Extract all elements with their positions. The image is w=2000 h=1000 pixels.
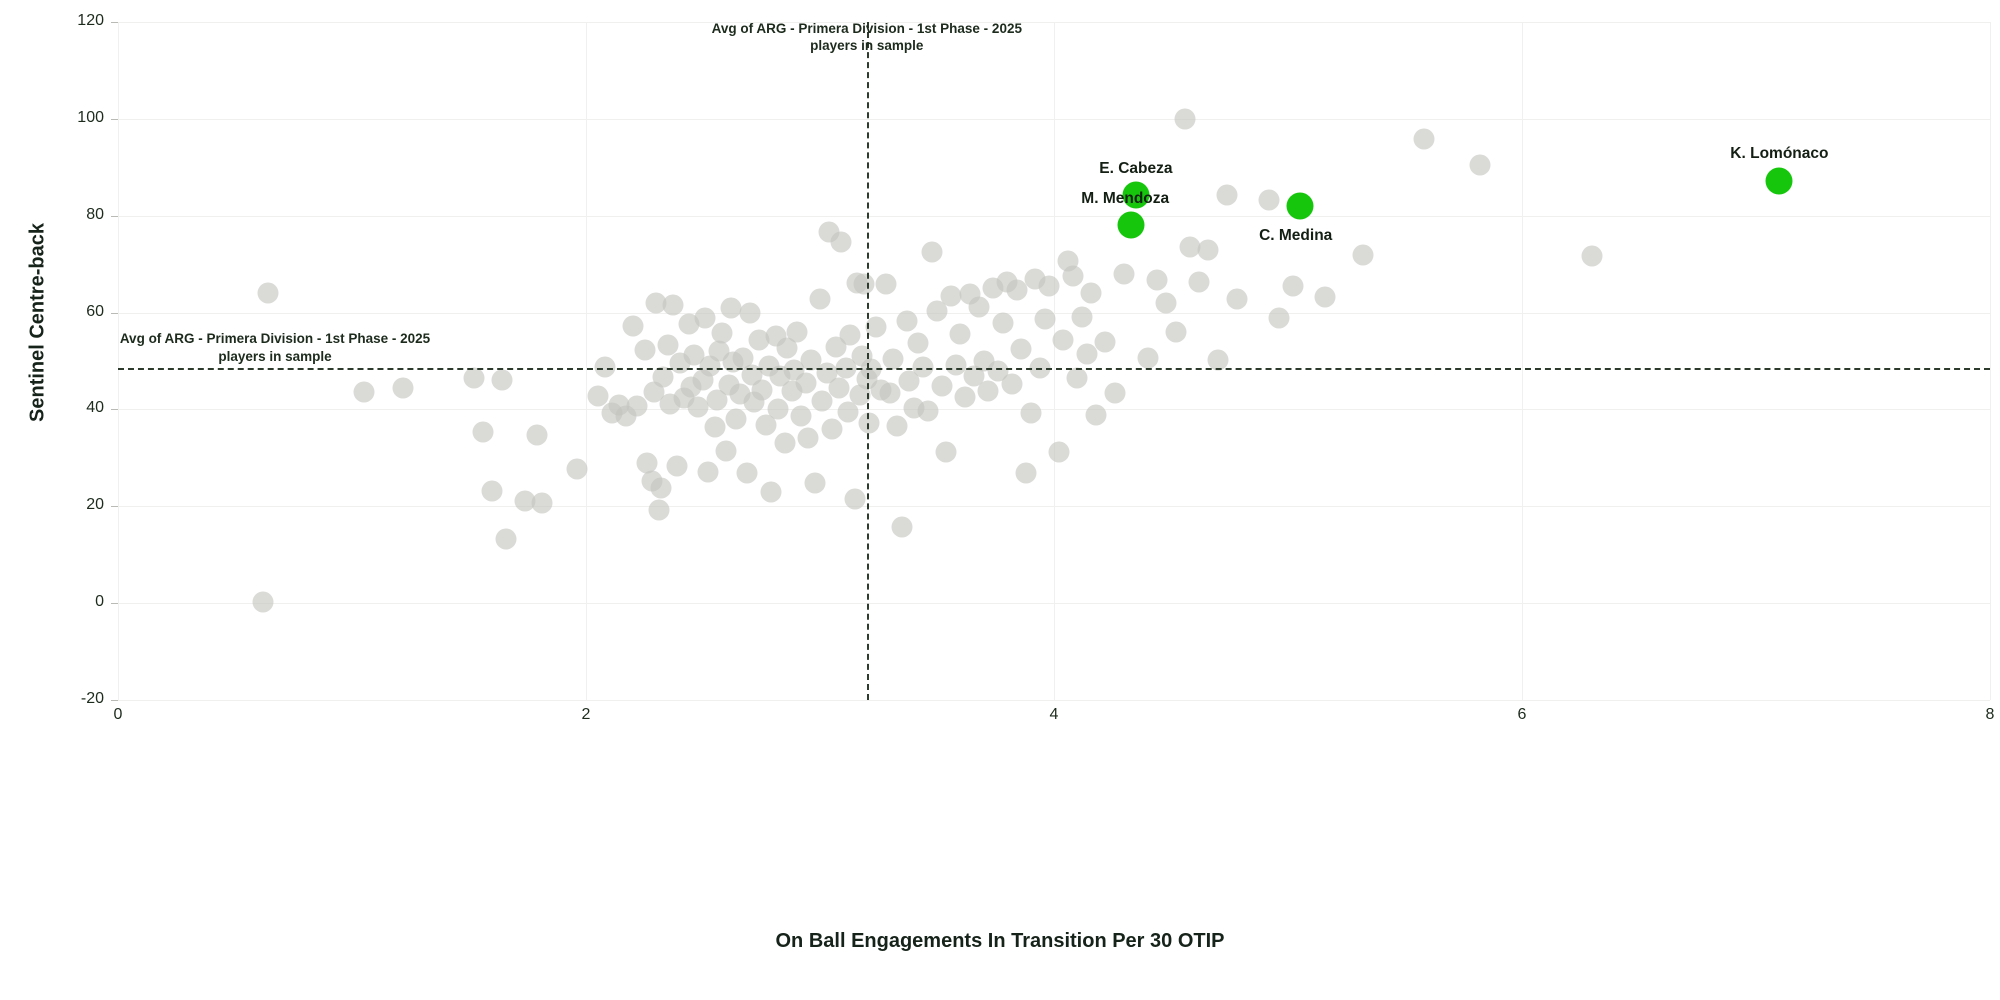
data-point[interactable] bbox=[1137, 348, 1158, 369]
data-point[interactable] bbox=[1146, 269, 1167, 290]
data-point[interactable] bbox=[473, 421, 494, 442]
data-point[interactable] bbox=[463, 368, 484, 389]
data-point[interactable] bbox=[805, 472, 826, 493]
data-point-label: E. Cabeza bbox=[1099, 160, 1172, 178]
data-point[interactable] bbox=[880, 382, 901, 403]
data-point[interactable] bbox=[1095, 331, 1116, 352]
scatter-chart: Sentinel Centre-back On Ball Engagements… bbox=[0, 0, 2000, 1000]
x-tick-label: 8 bbox=[1986, 706, 1995, 724]
data-point[interactable] bbox=[353, 381, 374, 402]
data-point[interactable] bbox=[1039, 276, 1060, 297]
reference-line-vertical-annotation: Avg of ARG - Primera Division - 1st Phas… bbox=[712, 20, 1022, 55]
data-point[interactable] bbox=[566, 458, 587, 479]
data-point[interactable] bbox=[1282, 276, 1303, 297]
x-axis-title: On Ball Engagements In Transition Per 30… bbox=[0, 930, 2000, 953]
data-point[interactable] bbox=[936, 442, 957, 463]
gridline-vertical bbox=[1054, 22, 1055, 700]
data-point[interactable] bbox=[657, 334, 678, 355]
y-tick-mark bbox=[111, 409, 118, 410]
data-point[interactable] bbox=[622, 316, 643, 337]
data-point[interactable] bbox=[1198, 239, 1219, 260]
data-point[interactable] bbox=[941, 286, 962, 307]
data-point[interactable] bbox=[1217, 184, 1238, 205]
x-tick-label: 6 bbox=[1518, 706, 1527, 724]
y-tick-mark bbox=[111, 313, 118, 314]
data-point[interactable] bbox=[840, 324, 861, 345]
data-point[interactable] bbox=[667, 456, 688, 477]
x-tick-label: 4 bbox=[1050, 706, 1059, 724]
data-point[interactable] bbox=[1189, 271, 1210, 292]
y-tick-mark bbox=[111, 700, 118, 701]
data-point[interactable] bbox=[662, 294, 683, 315]
data-point[interactable] bbox=[1352, 245, 1373, 266]
data-point[interactable] bbox=[1165, 321, 1186, 342]
data-point[interactable] bbox=[828, 377, 849, 398]
highlighted-data-point[interactable] bbox=[1766, 167, 1793, 194]
data-point[interactable] bbox=[1011, 339, 1032, 360]
reference-line-horizontal-annotation: Avg of ARG - Primera Division - 1st Phas… bbox=[90, 330, 460, 365]
data-point-label: M. Mendoza bbox=[1081, 190, 1169, 208]
data-point[interactable] bbox=[1072, 307, 1093, 328]
data-point[interactable] bbox=[1006, 280, 1027, 301]
data-point[interactable] bbox=[1062, 265, 1083, 286]
data-point[interactable] bbox=[739, 303, 760, 324]
data-point[interactable] bbox=[1053, 329, 1074, 350]
data-point[interactable] bbox=[491, 370, 512, 391]
data-point[interactable] bbox=[1067, 367, 1088, 388]
data-point[interactable] bbox=[810, 288, 831, 309]
data-point[interactable] bbox=[854, 274, 875, 295]
data-point[interactable] bbox=[866, 317, 887, 338]
y-tick-mark bbox=[111, 603, 118, 604]
data-point[interactable] bbox=[1104, 382, 1125, 403]
data-point[interactable] bbox=[1179, 236, 1200, 257]
data-point[interactable] bbox=[838, 402, 859, 423]
data-point[interactable] bbox=[887, 416, 908, 437]
data-point[interactable] bbox=[1081, 283, 1102, 304]
gridline-horizontal bbox=[118, 700, 1990, 701]
data-point[interactable] bbox=[791, 405, 812, 426]
y-tick-mark bbox=[111, 22, 118, 23]
data-point[interactable] bbox=[1156, 292, 1177, 313]
data-point[interactable] bbox=[1268, 308, 1289, 329]
y-tick-label: 40 bbox=[24, 399, 104, 417]
data-point[interactable] bbox=[253, 592, 274, 613]
data-point[interactable] bbox=[891, 516, 912, 537]
data-point[interactable] bbox=[1086, 404, 1107, 425]
gridline-vertical bbox=[1990, 22, 1991, 700]
data-point[interactable] bbox=[1413, 128, 1434, 149]
data-point[interactable] bbox=[711, 322, 732, 343]
y-tick-mark bbox=[111, 216, 118, 217]
data-point[interactable] bbox=[992, 313, 1013, 334]
data-point[interactable] bbox=[1469, 154, 1490, 175]
reference-line-vertical bbox=[867, 22, 869, 700]
data-point[interactable] bbox=[721, 297, 742, 318]
data-point[interactable] bbox=[950, 323, 971, 344]
x-tick-label: 2 bbox=[582, 706, 591, 724]
data-point[interactable] bbox=[795, 372, 816, 393]
data-point[interactable] bbox=[786, 321, 807, 342]
data-point[interactable] bbox=[922, 242, 943, 263]
data-point-label: K. Lomónaco bbox=[1730, 145, 1828, 163]
data-point[interactable] bbox=[1048, 442, 1069, 463]
data-point[interactable] bbox=[896, 311, 917, 332]
data-point-label: C. Medina bbox=[1259, 227, 1332, 245]
y-tick-label: 60 bbox=[24, 303, 104, 321]
data-point[interactable] bbox=[1175, 108, 1196, 129]
gridline-vertical bbox=[586, 22, 587, 700]
y-tick-mark bbox=[111, 506, 118, 507]
data-point[interactable] bbox=[751, 379, 772, 400]
data-point[interactable] bbox=[945, 354, 966, 375]
data-point[interactable] bbox=[526, 425, 547, 446]
data-point[interactable] bbox=[774, 432, 795, 453]
gridline-vertical bbox=[1522, 22, 1523, 700]
data-point[interactable] bbox=[1114, 263, 1135, 284]
data-point[interactable] bbox=[1020, 402, 1041, 423]
data-point[interactable] bbox=[978, 381, 999, 402]
data-point[interactable] bbox=[704, 417, 725, 438]
data-point[interactable] bbox=[955, 386, 976, 407]
y-tick-label: -20 bbox=[24, 690, 104, 708]
data-point[interactable] bbox=[917, 401, 938, 422]
data-point[interactable] bbox=[1226, 289, 1247, 310]
data-point[interactable] bbox=[393, 378, 414, 399]
data-point[interactable] bbox=[882, 348, 903, 369]
data-point[interactable] bbox=[859, 412, 880, 433]
data-point[interactable] bbox=[969, 296, 990, 317]
data-point[interactable] bbox=[831, 231, 852, 252]
data-point[interactable] bbox=[798, 428, 819, 449]
data-point[interactable] bbox=[737, 463, 758, 484]
data-point[interactable] bbox=[908, 332, 929, 353]
y-tick-label: 80 bbox=[24, 206, 104, 224]
data-point[interactable] bbox=[650, 477, 671, 498]
data-point[interactable] bbox=[634, 340, 655, 361]
data-point[interactable] bbox=[760, 482, 781, 503]
data-point[interactable] bbox=[725, 409, 746, 430]
data-point[interactable] bbox=[845, 488, 866, 509]
data-point[interactable] bbox=[716, 441, 737, 462]
reference-line-horizontal bbox=[118, 368, 1990, 370]
data-point[interactable] bbox=[1015, 463, 1036, 484]
y-tick-mark bbox=[111, 119, 118, 120]
data-point[interactable] bbox=[648, 499, 669, 520]
data-point[interactable] bbox=[912, 356, 933, 377]
highlighted-data-point[interactable] bbox=[1286, 193, 1313, 220]
data-point[interactable] bbox=[821, 418, 842, 439]
x-tick-label: 0 bbox=[114, 706, 123, 724]
data-point[interactable] bbox=[531, 492, 552, 513]
data-point[interactable] bbox=[1034, 309, 1055, 330]
data-point[interactable] bbox=[496, 528, 517, 549]
data-point[interactable] bbox=[257, 283, 278, 304]
data-point[interactable] bbox=[1582, 246, 1603, 267]
data-point[interactable] bbox=[697, 462, 718, 483]
data-point[interactable] bbox=[875, 273, 896, 294]
data-point[interactable] bbox=[1076, 343, 1097, 364]
y-tick-label: 100 bbox=[24, 109, 104, 127]
data-point[interactable] bbox=[1315, 287, 1336, 308]
highlighted-data-point[interactable] bbox=[1118, 212, 1145, 239]
data-point[interactable] bbox=[1259, 190, 1280, 211]
data-point[interactable] bbox=[931, 376, 952, 397]
data-point[interactable] bbox=[1001, 374, 1022, 395]
data-point[interactable] bbox=[482, 480, 503, 501]
y-tick-label: 120 bbox=[24, 12, 104, 30]
data-point[interactable] bbox=[767, 399, 788, 420]
y-tick-label: 20 bbox=[24, 496, 104, 514]
y-tick-label: 0 bbox=[24, 593, 104, 611]
